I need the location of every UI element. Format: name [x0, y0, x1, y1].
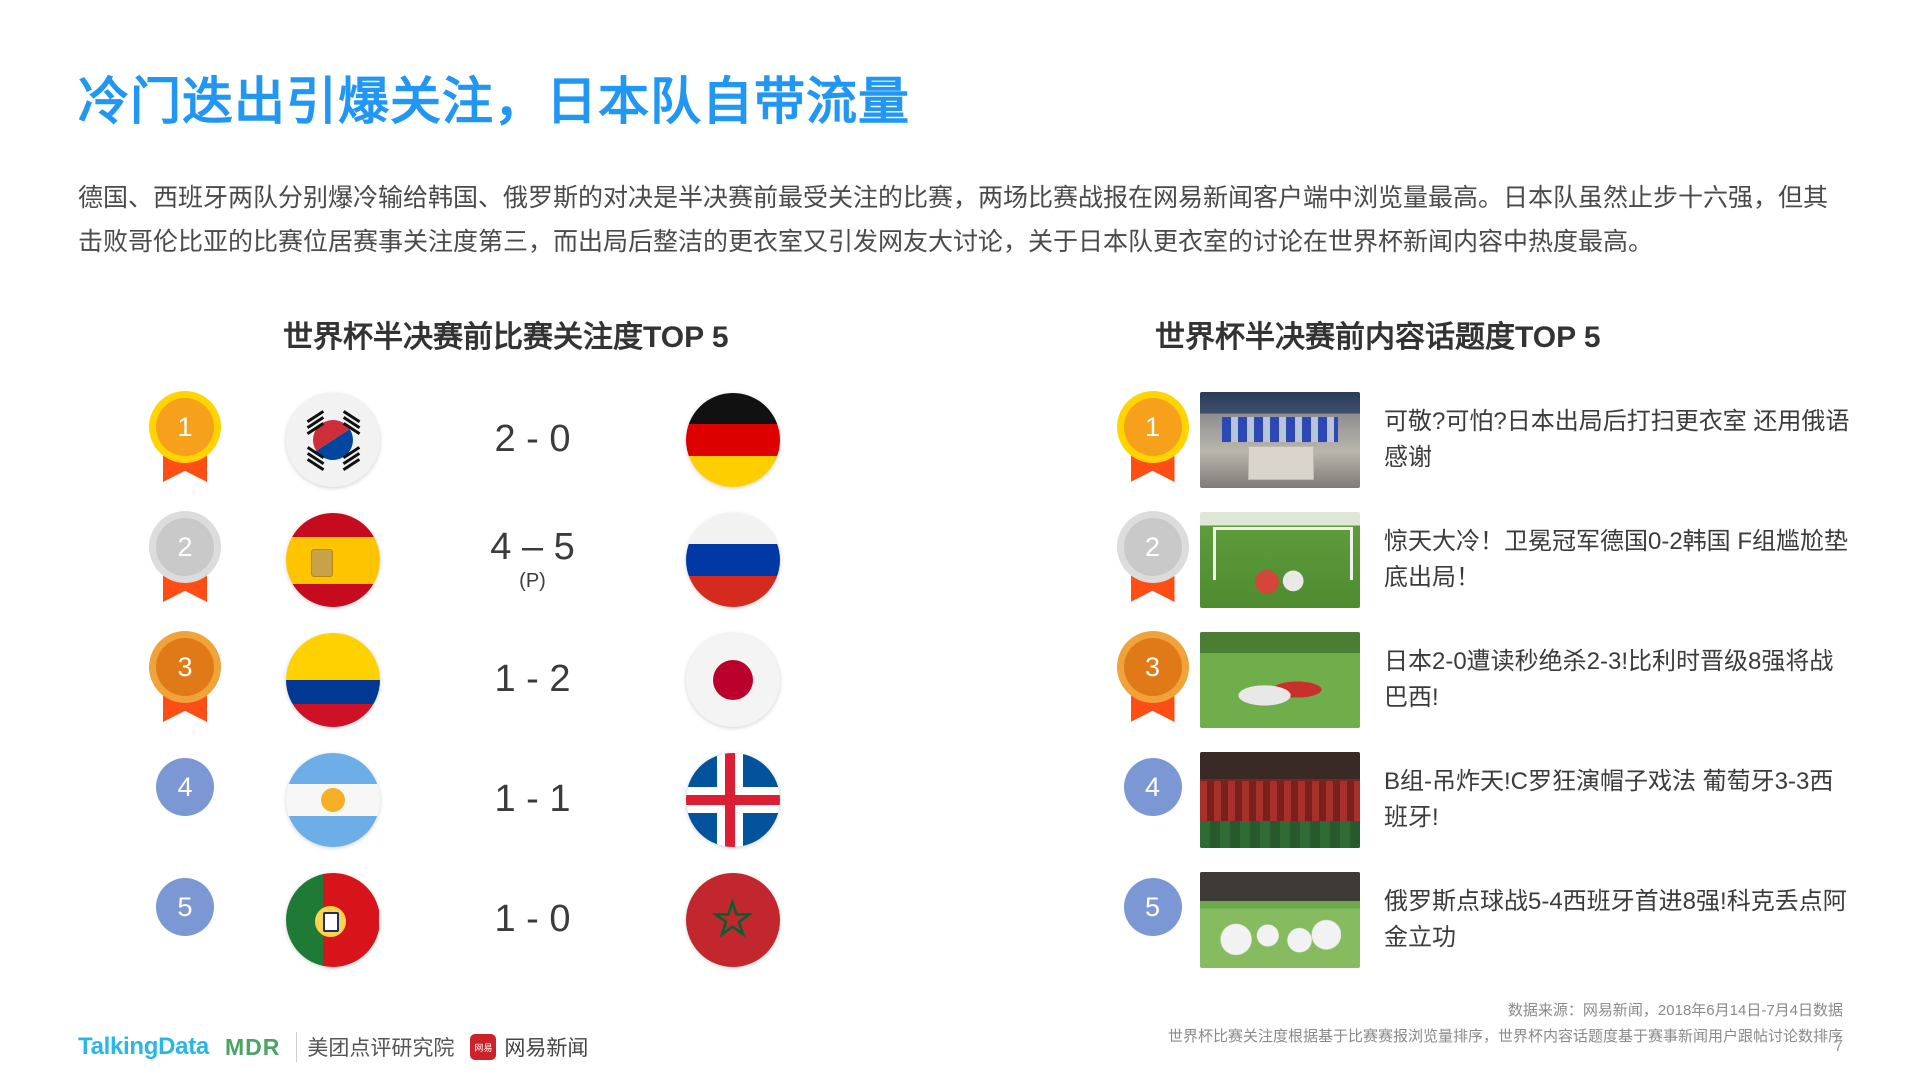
flag-morocco-icon: ★	[686, 873, 780, 967]
rank-cell: 5	[130, 878, 240, 962]
table-row: 2 4 – 5 (P)	[130, 500, 890, 620]
news-headline[interactable]: B组-吊炸天!C罗狂演帽子戏法 葡萄牙3-3西班牙!	[1384, 764, 1854, 836]
medal-badge-gold: 1	[1124, 398, 1182, 482]
news-thumbnail-image	[1200, 632, 1360, 728]
rank-number: 1	[1124, 398, 1182, 456]
news-headline[interactable]: 惊天大冷！卫冕冠军德国0-2韩国 F组尴尬垫底出局！	[1384, 524, 1854, 596]
flag-spain-icon	[286, 513, 380, 607]
score-cell: 1 - 2	[425, 660, 640, 700]
score-value: 1 - 2	[494, 658, 570, 700]
rank-number: 2	[1124, 518, 1182, 576]
rank-cell: 2	[130, 518, 240, 602]
medal-badge-silver: 2	[156, 518, 214, 602]
away-flag-cell	[640, 393, 825, 487]
flag-portugal-icon	[286, 873, 380, 967]
score-value: 1 - 0	[494, 898, 570, 940]
home-flag-cell	[240, 393, 425, 487]
score-note: (P)	[425, 571, 640, 592]
list-item[interactable]: 1 可敬?可怕?日本出局后打扫更衣室 还用俄语感谢	[1105, 380, 1895, 500]
score-cell: 1 - 1	[425, 780, 640, 820]
flag-iceland-icon	[686, 753, 780, 847]
rank-cell: 1	[1105, 398, 1200, 482]
rank-cell: 2	[1105, 518, 1200, 602]
rank-number: 2	[156, 518, 214, 576]
news-headline[interactable]: 日本2-0遭读秒绝杀2-3!比利时晋级8强将战巴西!	[1384, 644, 1854, 716]
medal-badge-silver: 2	[1124, 518, 1182, 602]
score-value: 2 - 0	[494, 418, 570, 460]
rank-cell: 3	[130, 638, 240, 722]
score-cell: 1 - 0	[425, 900, 640, 940]
left-section-title: 世界杯半决赛前比赛关注度TOP 5	[283, 312, 729, 356]
score-cell: 2 - 0	[425, 420, 640, 460]
footer-logos: TalkingData MDR 美团点评研究院 网易 网易新闻	[78, 1032, 588, 1062]
rank-badge-4: 4	[1124, 758, 1182, 842]
flag-russia-icon	[686, 513, 780, 607]
rank-number: 4	[1124, 758, 1182, 816]
table-row: 4 1 - 1	[130, 740, 890, 860]
netease-mark-icon: 网易	[470, 1034, 496, 1060]
rank-cell: 4	[130, 758, 240, 842]
netease-label: 网易新闻	[504, 1032, 588, 1062]
score-cell: 4 – 5 (P)	[425, 528, 640, 592]
right-section-title: 世界杯半决赛前内容话题度TOP 5	[1155, 312, 1601, 356]
away-flag-cell	[640, 513, 825, 607]
home-flag-cell	[240, 513, 425, 607]
source-note: 数据来源：网易新闻，2018年6月14日-7月4日数据 世界杯比赛关注度根据基于…	[1168, 998, 1843, 1050]
news-thumbnail-image	[1200, 752, 1360, 848]
news-thumbnail-image	[1200, 392, 1360, 488]
meituan-research-logo: 美团点评研究院	[296, 1032, 454, 1062]
match-ranking-list: 1	[130, 380, 890, 980]
mdr-logo: MDR	[225, 1034, 280, 1061]
rank-number: 1	[156, 398, 214, 456]
talkingdata-logo: TalkingData	[78, 1033, 209, 1061]
list-item[interactable]: 3 日本2-0遭读秒绝杀2-3!比利时晋级8强将战巴西!	[1105, 620, 1895, 740]
rank-badge-5: 5	[156, 878, 214, 962]
news-ranking-list: 1 可敬?可怕?日本出局后打扫更衣室 还用俄语感谢 2 惊天大冷！卫冕冠军德国0…	[1105, 380, 1895, 980]
source-line-2: 世界杯比赛关注度根据基于比赛赛报浏览量排序，世界杯内容话题度基于赛事新闻用户跟帖…	[1168, 1024, 1843, 1050]
away-flag-cell: ★	[640, 873, 825, 967]
table-row: 3 1 - 2	[130, 620, 890, 740]
home-flag-cell	[240, 633, 425, 727]
table-row: 5 1 - 0 ★	[130, 860, 890, 980]
source-line-1: 数据来源：网易新闻，2018年6月14日-7月4日数据	[1168, 998, 1843, 1024]
away-flag-cell	[640, 753, 825, 847]
intro-paragraph: 德国、西班牙两队分别爆冷输给韩国、俄罗斯的对决是半决赛前最受关注的比赛，两场比赛…	[78, 176, 1848, 264]
netease-news-logo: 网易 网易新闻	[470, 1032, 588, 1062]
flag-argentina-icon	[286, 753, 380, 847]
news-thumbnail-image	[1200, 512, 1360, 608]
rank-cell: 1	[130, 398, 240, 482]
flag-germany-icon	[686, 393, 780, 487]
away-flag-cell	[640, 633, 825, 727]
page-number: 7	[1834, 1038, 1843, 1056]
news-thumbnail-image	[1200, 872, 1360, 968]
rank-number: 3	[1124, 638, 1182, 696]
news-headline[interactable]: 俄罗斯点球战5-4西班牙首进8强!科克丢点阿金立功	[1384, 884, 1854, 956]
score-value: 4 – 5	[490, 526, 575, 568]
slide-root: 冷门迭出引爆关注，日本队自带流量 德国、西班牙两队分别爆冷输给韩国、俄罗斯的对决…	[0, 0, 1921, 1080]
news-headline[interactable]: 可敬?可怕?日本出局后打扫更衣室 还用俄语感谢	[1384, 404, 1854, 476]
rank-cell: 5	[1105, 878, 1200, 962]
flag-japan-icon	[686, 633, 780, 727]
medal-badge-bronze: 3	[1124, 638, 1182, 722]
list-item[interactable]: 2 惊天大冷！卫冕冠军德国0-2韩国 F组尴尬垫底出局！	[1105, 500, 1895, 620]
list-item[interactable]: 4 B组-吊炸天!C罗狂演帽子戏法 葡萄牙3-3西班牙!	[1105, 740, 1895, 860]
rank-cell: 3	[1105, 638, 1200, 722]
rank-number: 3	[156, 638, 214, 696]
medal-badge-gold: 1	[156, 398, 214, 482]
rank-number: 5	[1124, 878, 1182, 936]
list-item[interactable]: 5 俄罗斯点球战5-4西班牙首进8强!科克丢点阿金立功	[1105, 860, 1895, 980]
rank-number: 5	[156, 878, 214, 936]
score-value: 1 - 1	[494, 778, 570, 820]
rank-number: 4	[156, 758, 214, 816]
table-row: 1	[130, 380, 890, 500]
medal-badge-bronze: 3	[156, 638, 214, 722]
rank-cell: 4	[1105, 758, 1200, 842]
rank-badge-5: 5	[1124, 878, 1182, 962]
flag-south-korea-icon	[286, 393, 380, 487]
home-flag-cell	[240, 753, 425, 847]
rank-badge-4: 4	[156, 758, 214, 842]
flag-colombia-icon	[286, 633, 380, 727]
home-flag-cell	[240, 873, 425, 967]
page-title: 冷门迭出引爆关注，日本队自带流量	[78, 60, 910, 134]
